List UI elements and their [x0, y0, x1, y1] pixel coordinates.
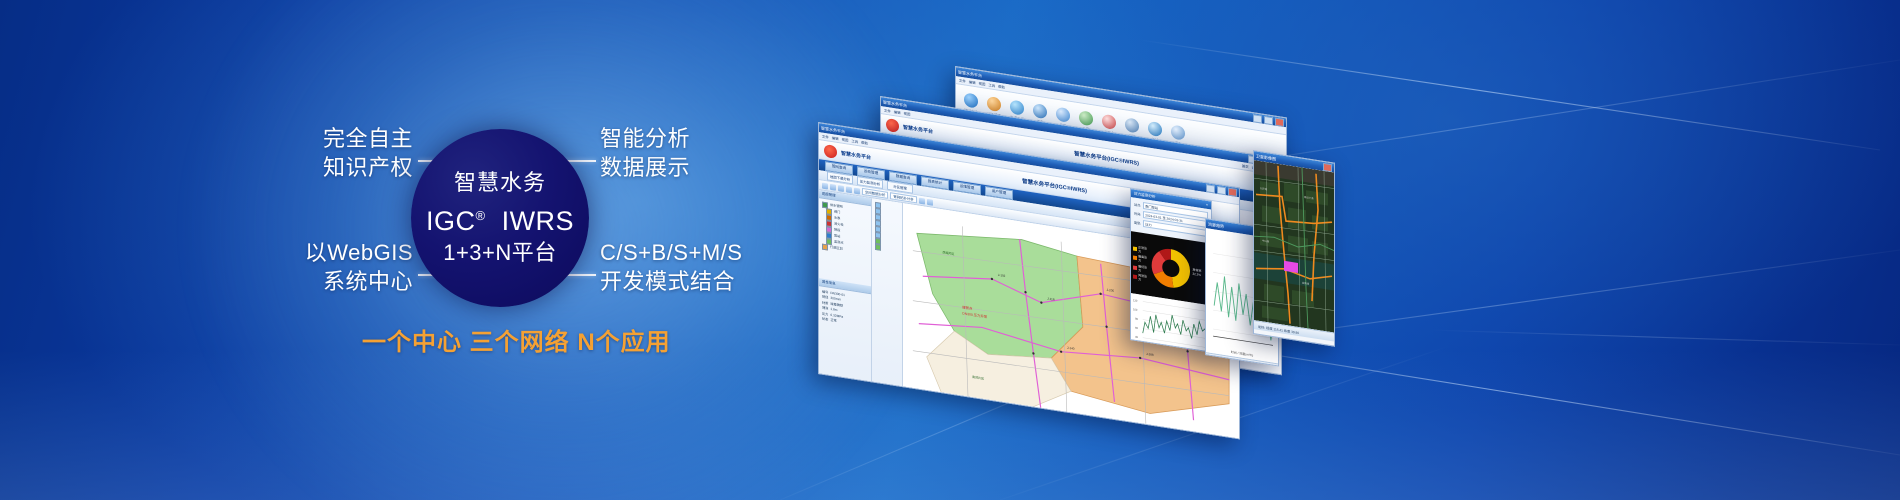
diagram-label-top-left-line1: 完全自主	[193, 124, 413, 153]
menu-item-view[interactable]: 视图	[904, 111, 911, 117]
user-icon	[1171, 124, 1185, 140]
svg-text:120: 120	[1133, 298, 1138, 303]
clipboard-icon	[987, 96, 1001, 112]
center-circle: 智慧水务 IGC® IWRS 1+3+N平台	[411, 129, 589, 307]
layer-label: 行政区划	[830, 245, 843, 252]
zoom-in-icon[interactable]	[830, 183, 836, 190]
minimize-icon[interactable]	[1253, 114, 1262, 123]
center-circle-platform: 1+3+N平台	[443, 239, 557, 266]
menu-item-help[interactable]: 帮助	[861, 140, 868, 146]
legend-label: 正常压力	[1138, 245, 1149, 255]
legend-swatch-icon	[1133, 275, 1137, 280]
layer-panel[interactable]: 图层管理 供水管网 阀门 水表 消火栓 管段 泵站 监测点 行政区划 属性信息 …	[819, 190, 872, 390]
menu-item-edit[interactable]: 编辑	[969, 79, 976, 85]
window-monitor[interactable]: 压力监测分析 × 站点: 南门泵站 时间: 2024-03-01 至 2024-…	[1130, 188, 1212, 353]
menu-item-help[interactable]: 帮助	[998, 84, 1005, 90]
close-icon[interactable]	[1275, 117, 1284, 126]
window-map[interactable]: 卫星影像图	[1253, 150, 1335, 347]
map-icon	[1079, 110, 1093, 126]
hero-banner: 完全自主 知识产权 以WebGIS 系统中心 智能分析 数据展示 C/S+B/S…	[0, 0, 1900, 500]
gear-icon	[1056, 107, 1070, 123]
center-circle-product: IGC® IWRS	[426, 200, 574, 237]
report-icon	[1033, 103, 1047, 119]
props-key: 状态	[822, 317, 828, 323]
diagram-label-bottom-left-line2: 系统中心	[173, 267, 413, 296]
zoom-out-icon[interactable]	[838, 185, 844, 192]
pan-icon[interactable]	[846, 186, 852, 193]
tool-list-panel[interactable]	[872, 198, 903, 395]
svg-text:60: 60	[1135, 326, 1138, 331]
diagram-label-bottom-right-line1: C/S+B/S+M/S	[600, 238, 742, 267]
props-value: 正常	[830, 318, 836, 324]
menu-item-edit[interactable]: 编辑	[832, 135, 839, 141]
globe-icon	[964, 92, 978, 108]
legend-swatch-icon	[1133, 256, 1137, 261]
wrench-icon	[1125, 117, 1139, 133]
concept-diagram: 完全自主 知识产权 以WebGIS 系统中心 智能分析 数据展示 C/S+B/S…	[0, 0, 820, 500]
field-label-time: 时间:	[1134, 211, 1141, 217]
props-list: 编号DN300-01 管径300mm 材质球墨铸铁 埋深1.8m 压力0.32M…	[819, 286, 871, 332]
legend-swatch-icon	[1133, 265, 1137, 270]
diagram-label-top-left-line2: 知识产权	[193, 153, 413, 182]
menu-item-view[interactable]: 视图	[979, 81, 986, 87]
menu-item-file[interactable]: 文件	[822, 134, 829, 140]
product-name-igc: IGC	[426, 206, 476, 236]
measure-icon[interactable]	[854, 187, 860, 194]
export-icon[interactable]	[927, 198, 933, 205]
menu-item-tools[interactable]: 工具	[851, 138, 858, 144]
layer-tree[interactable]: 供水管网 阀门 水表 消火栓 管段 泵站 监测点 行政区划	[819, 198, 871, 260]
close-icon[interactable]	[1228, 187, 1237, 196]
chart-icon	[1010, 100, 1024, 116]
svg-text:80: 80	[1135, 316, 1138, 321]
diagram-label-bottom-left: 以WebGIS 系统中心	[173, 238, 413, 296]
diagram-label-bottom-left-line1: 以WebGIS	[173, 238, 413, 267]
print-icon[interactable]	[919, 197, 925, 204]
legend-label: 偏低压力	[1138, 264, 1149, 274]
menu-item-view[interactable]: 视图	[842, 137, 849, 143]
product-name-iwrs: IWRS	[502, 206, 575, 236]
maximize-icon[interactable]	[1264, 115, 1273, 124]
layer-swatch-icon	[822, 244, 828, 251]
svg-text:100: 100	[1133, 307, 1138, 312]
legend-label: 偏高压力	[1138, 255, 1149, 265]
menu-item-tools[interactable]: 工具	[988, 82, 995, 88]
water-drop-logo-icon	[824, 143, 837, 158]
window-front-brand-text: 智慧水务平台	[841, 149, 871, 161]
legend-swatch-icon	[1133, 246, 1137, 251]
tagline: 一个中心 三个网络 N个应用	[362, 322, 671, 357]
tool-icon	[875, 244, 881, 251]
diagram-label-top-left: 完全自主 知识产权	[193, 124, 413, 182]
menu-item-edit[interactable]: 编辑	[894, 109, 901, 115]
water-drop-logo-icon	[886, 117, 899, 132]
minimize-icon[interactable]	[1206, 184, 1215, 193]
pointer-icon[interactable]	[822, 182, 828, 189]
registered-mark-icon: ®	[475, 208, 485, 223]
satellite-map-canvas[interactable]: 北环路建设大道中山路城南湖	[1254, 160, 1334, 332]
diagram-label-bottom-right: C/S+B/S+M/S 开发模式结合	[600, 238, 742, 296]
window-mid-brand-text: 智慧水务平台	[903, 123, 933, 135]
legend-label: 异常压力	[1138, 274, 1149, 284]
link-home[interactable]: 首页	[1242, 163, 1249, 169]
maximize-icon[interactable]	[1217, 185, 1226, 194]
tool-list[interactable]	[872, 198, 902, 257]
center-circle-title: 智慧水务	[454, 170, 546, 196]
menu-item-file[interactable]: 文件	[884, 108, 891, 114]
statusbar-left: 就绪	[823, 385, 829, 391]
diagram-label-top-right: 智能分析 数据展示	[600, 124, 690, 182]
diagram-label-top-right-line1: 智能分析	[600, 124, 690, 153]
diagram-label-top-right-line2: 数据展示	[600, 153, 690, 182]
field-label-type: 类型:	[1134, 220, 1141, 226]
monitor-point-icon	[1102, 114, 1116, 130]
close-icon[interactable]: ×	[1206, 203, 1208, 207]
svg-text:40: 40	[1135, 335, 1138, 340]
field-label-station: 站点:	[1134, 202, 1141, 208]
diagram-label-bottom-right-line2: 开发模式结合	[600, 267, 742, 296]
statistics-icon	[1148, 121, 1162, 137]
menu-item-file[interactable]: 文件	[959, 78, 966, 84]
